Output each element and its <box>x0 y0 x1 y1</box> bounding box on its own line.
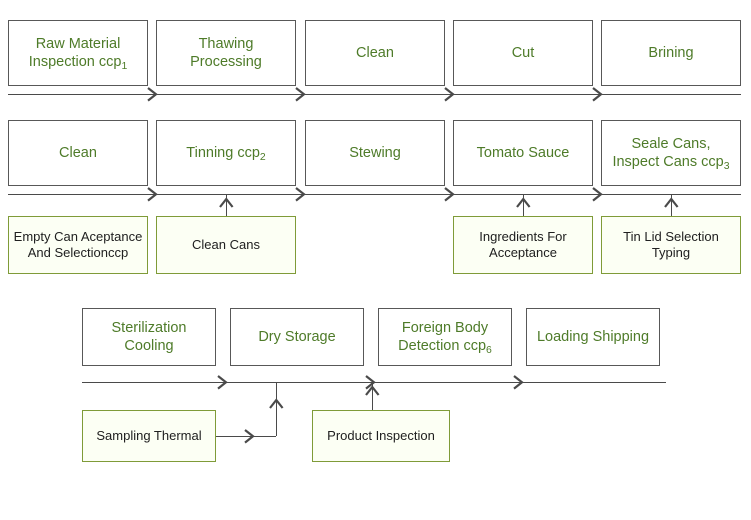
ccp-subscript: 3 <box>724 161 730 172</box>
arrow-right-icon <box>512 374 528 391</box>
process-box-tomato-sauce[interactable]: Tomato Sauce <box>453 120 593 186</box>
flow-line-row2 <box>8 194 741 195</box>
process-box-label: Clean <box>352 44 398 62</box>
process-box-seale-inspect-cans[interactable]: Seale Cans, Inspect Cans ccp3 <box>601 120 741 186</box>
arrow-up-icon <box>515 196 532 212</box>
process-box-label: Stewing <box>345 144 405 162</box>
process-box-label: Tinning ccp2 <box>182 144 269 162</box>
process-box-label: Seale Cans, Inspect Cans ccp3 <box>608 135 733 171</box>
ccp-subscript: 1 <box>121 61 127 72</box>
arrow-right-icon <box>294 186 310 203</box>
arrow-right-icon <box>146 186 162 203</box>
support-box-ingredients-for-acceptance[interactable]: Ingredients For Acceptance <box>453 216 593 274</box>
support-box-sampling-thermal[interactable]: Sampling Thermal <box>82 410 216 462</box>
process-box-label: Thawing Processing <box>186 35 266 71</box>
ccp-subscript: 2 <box>260 152 266 163</box>
arrow-right-icon <box>146 86 162 103</box>
flowchart-canvas: Raw Material Inspection ccp1 Thawing Pro… <box>0 0 751 520</box>
process-box-raw-material-inspection[interactable]: Raw Material Inspection ccp1 <box>8 20 148 86</box>
arrow-up-icon <box>663 196 680 212</box>
support-box-clean-cans[interactable]: Clean Cans <box>156 216 296 274</box>
support-box-product-inspection[interactable]: Product Inspection <box>312 410 450 462</box>
process-box-label: Clean <box>55 144 101 162</box>
process-box-label: Loading Shipping <box>533 328 653 346</box>
arrow-right-icon <box>294 86 310 103</box>
arrow-right-icon <box>443 86 459 103</box>
support-box-label: Sampling Thermal <box>92 428 205 444</box>
support-box-tin-lid-selection-typing[interactable]: Tin Lid Selection Typing <box>601 216 741 274</box>
process-box-thawing-processing[interactable]: Thawing Processing <box>156 20 296 86</box>
flow-line-row1 <box>8 94 741 95</box>
ccp-subscript: 6 <box>486 345 492 356</box>
arrow-right-icon <box>443 186 459 203</box>
process-box-foreign-body-detection[interactable]: Foreign Body Detection ccp6 <box>378 308 512 366</box>
support-box-label: Empty Can Aceptance And Selectionccp <box>10 229 147 262</box>
process-box-label: Brining <box>644 44 697 62</box>
support-box-label: Clean Cans <box>188 237 264 253</box>
process-box-brining[interactable]: Brining <box>601 20 741 86</box>
process-box-clean-1[interactable]: Clean <box>305 20 445 86</box>
process-box-cut[interactable]: Cut <box>453 20 593 86</box>
process-box-tinning[interactable]: Tinning ccp2 <box>156 120 296 186</box>
process-box-sterilization-cooling[interactable]: Sterilization Cooling <box>82 308 216 366</box>
process-box-label: Sterilization Cooling <box>108 319 191 355</box>
process-box-dry-storage[interactable]: Dry Storage <box>230 308 364 366</box>
arrow-right-icon <box>216 374 232 391</box>
process-box-label: Dry Storage <box>254 328 339 346</box>
support-box-label: Product Inspection <box>323 428 439 444</box>
arrow-up-icon <box>218 196 235 212</box>
support-box-label: Ingredients For Acceptance <box>475 229 570 262</box>
process-box-clean-2[interactable]: Clean <box>8 120 148 186</box>
support-box-empty-can-acceptance[interactable]: Empty Can Aceptance And Selectionccp <box>8 216 148 274</box>
arrow-right-icon <box>591 186 607 203</box>
arrow-right-icon <box>591 86 607 103</box>
arrow-right-icon <box>243 428 259 445</box>
arrow-up-icon <box>364 384 381 400</box>
support-box-label: Tin Lid Selection Typing <box>619 229 723 262</box>
process-box-label: Foreign Body Detection ccp6 <box>394 319 496 355</box>
process-box-stewing[interactable]: Stewing <box>305 120 445 186</box>
process-box-loading-shipping[interactable]: Loading Shipping <box>526 308 660 366</box>
process-box-label: Raw Material Inspection ccp1 <box>25 35 132 71</box>
arrow-up-icon <box>268 397 285 413</box>
process-box-label: Cut <box>508 44 539 62</box>
process-box-label: Tomato Sauce <box>473 144 574 162</box>
